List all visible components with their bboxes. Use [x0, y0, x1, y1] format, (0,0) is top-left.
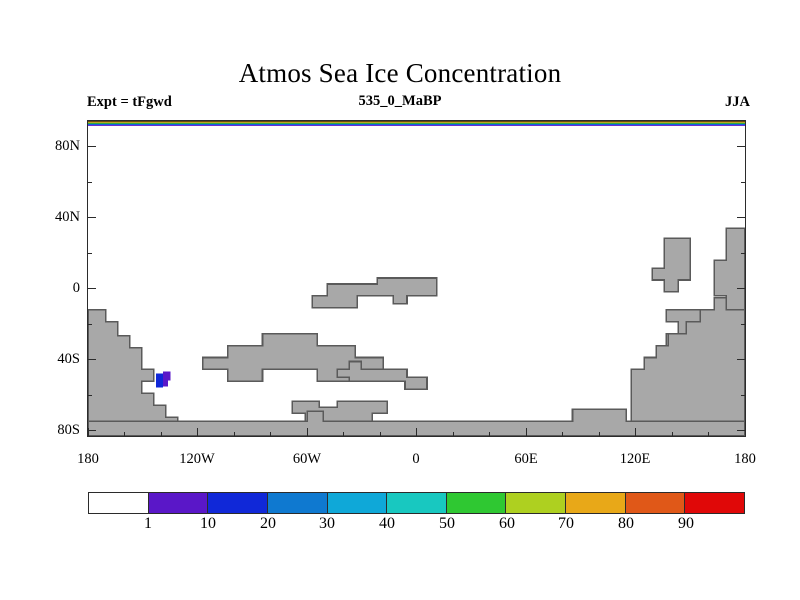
xlabel-60w: 60W — [272, 452, 342, 467]
colorbar-swatch-60 — [505, 493, 565, 513]
xtick-180w — [88, 428, 89, 437]
colorbar-swatch-40 — [386, 493, 446, 513]
xlabel-120w: 120W — [162, 452, 232, 467]
colorbar-swatch-90 — [684, 493, 744, 513]
xtick-minor-40w — [343, 432, 344, 437]
ytick-right-minor-20s — [741, 324, 746, 325]
xlabel-180e: 180 — [710, 452, 780, 467]
colorbar-swatch-70 — [565, 493, 625, 513]
xtick-minor-80w — [270, 432, 271, 437]
ytick-right-minor-20n — [741, 253, 746, 254]
colorbar-swatch-30 — [327, 493, 387, 513]
ytick-right-minor-60n — [741, 182, 746, 183]
xtick-120e — [635, 428, 636, 437]
colorbar-label-10: 10 — [183, 516, 233, 532]
xtick-minor-160w — [124, 432, 125, 437]
colorbar-label-20: 20 — [243, 516, 293, 532]
xtick-minor-140e — [672, 432, 673, 437]
colorbar-label-90: 90 — [661, 516, 711, 532]
xtick-180e — [745, 428, 746, 437]
colorbar-swatch-10 — [207, 493, 267, 513]
colorbar-swatch-80 — [625, 493, 685, 513]
xtick-minor-140w — [161, 432, 162, 437]
xtick-60w — [307, 428, 308, 437]
colorbar-label-70: 70 — [541, 516, 591, 532]
ytick-right-80n — [737, 146, 746, 147]
xtick-minor-80e — [562, 432, 563, 437]
xtick-120w — [197, 428, 198, 437]
climate-map-figure: Atmos Sea Ice Concentration 535_0_MaBP E… — [0, 0, 800, 600]
xtick-minor-20w — [380, 432, 381, 437]
ytick-right-40s — [737, 359, 746, 360]
xtick-minor-100e — [599, 432, 600, 437]
ytick-minor-60s — [87, 395, 92, 396]
ytick-right-minor-60s — [741, 395, 746, 396]
ytick-right-0 — [737, 288, 746, 289]
colorbar-label-1: 1 — [123, 516, 173, 532]
colorbar-swatch-0 — [89, 493, 148, 513]
xtick-minor-40e — [489, 432, 490, 437]
ylabel-0: 0 — [20, 281, 80, 296]
colorbar-label-40: 40 — [362, 516, 412, 532]
ytick-minor-20n — [87, 253, 92, 254]
map-plot-area — [87, 120, 746, 437]
ytick-minor-20s — [87, 324, 92, 325]
colorbar-swatch-20 — [267, 493, 327, 513]
xtick-minor-100w — [234, 432, 235, 437]
xlabel-120e: 120E — [600, 452, 670, 467]
ytick-40s — [87, 359, 96, 360]
ytick-80n — [87, 146, 96, 147]
ytick-minor-60n — [87, 182, 92, 183]
page-title: Atmos Sea Ice Concentration — [0, 58, 800, 89]
ylabel-80n: 80N — [20, 139, 80, 154]
colorbar — [88, 492, 745, 514]
colorbar-label-60: 60 — [482, 516, 532, 532]
ytick-0 — [87, 288, 96, 289]
xtick-60e — [526, 428, 527, 437]
ylabel-80s: 80S — [20, 423, 80, 438]
experiment-label: Expt = tFgwd — [87, 94, 172, 111]
xtick-minor-20e — [453, 432, 454, 437]
ytick-40n — [87, 217, 96, 218]
colorbar-label-50: 50 — [422, 516, 472, 532]
xlabel-180w: 180 — [53, 452, 123, 467]
colorbar-label-80: 80 — [601, 516, 651, 532]
colorbar-swatch-50 — [446, 493, 506, 513]
southern-coastal-ice-patch — [88, 121, 745, 436]
xtick-minor-160e — [708, 432, 709, 437]
ytick-right-40n — [737, 217, 746, 218]
xlabel-60e: 60E — [491, 452, 561, 467]
colorbar-label-30: 30 — [302, 516, 352, 532]
ylabel-40s: 40S — [20, 352, 80, 367]
ylabel-40n: 40N — [20, 210, 80, 225]
colorbar-swatch-1 — [148, 493, 208, 513]
xtick-0 — [416, 428, 417, 437]
xlabel-0: 0 — [381, 452, 451, 467]
season-label: JJA — [725, 94, 750, 111]
